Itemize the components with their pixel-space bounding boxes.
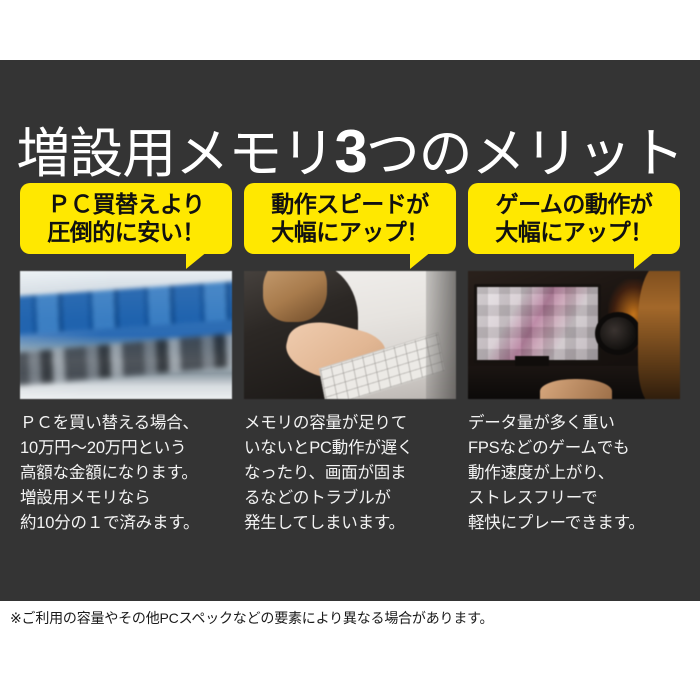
benefit-column-3: ゲームの動作が 大幅にアップ！ データ量が多く重い FPSなどのゲ bbox=[468, 183, 680, 536]
bubble-1-line-1: ＰＣ買替えより bbox=[47, 191, 204, 217]
promo-banner-page: 増設用メモリ3つのメリット ＰＣ買替えより 圧倒的に安い！ ＰＣを買い替える場合… bbox=[0, 0, 700, 700]
page-title: 増設用メモリ3つのメリット bbox=[0, 122, 700, 182]
footnote-text: ※ご利用の容量やその他PCスペックなどの要素により異なる場合があります。 bbox=[10, 608, 493, 628]
gaming-setup-photo bbox=[468, 271, 680, 399]
benefit-3-line-1: データ量が多く重い bbox=[468, 411, 680, 436]
benefit-2-line-4: るなどのトラブルが bbox=[244, 486, 456, 511]
speech-bubble-2-tail bbox=[410, 251, 432, 269]
electronics-store-photo bbox=[20, 271, 232, 399]
bubble-2-line-2: 大幅にアップ！ bbox=[248, 218, 452, 246]
benefit-1-line-3: 高額な金額になります。 bbox=[20, 461, 232, 486]
benefit-3-line-5: 軽快にプレーできます。 bbox=[468, 511, 680, 536]
bubble-1-line-2: 圧倒的に安い！ bbox=[24, 218, 228, 246]
benefit-3-body: データ量が多く重い FPSなどのゲームでも 動作速度が上がり、 ストレスフリーで… bbox=[468, 411, 680, 536]
bubble-3-line-1: ゲームの動作が bbox=[496, 191, 653, 217]
benefit-3-line-2: FPSなどのゲームでも bbox=[468, 436, 680, 461]
benefit-column-1: ＰＣ買替えより 圧倒的に安い！ ＰＣを買い替える場合、 10万円〜20万円という… bbox=[20, 183, 232, 536]
benefit-2-line-1: メモリの容量が足りて bbox=[244, 411, 456, 436]
hands-shape bbox=[540, 379, 612, 399]
benefit-1-line-4: 増設用メモリなら bbox=[20, 486, 232, 511]
benefit-3-line-4: ストレスフリーで bbox=[468, 486, 680, 511]
benefit-2-line-2: いないとPC動作が遅く bbox=[244, 436, 456, 461]
benefit-1-line-2: 10万円〜20万円という bbox=[20, 436, 232, 461]
speech-bubble-3-tail bbox=[634, 251, 656, 269]
monitor-screen-shape bbox=[474, 284, 601, 363]
speech-bubble-1-text: ＰＣ買替えより 圧倒的に安い！ bbox=[20, 183, 232, 254]
speech-bubble-2-text: 動作スピードが 大幅にアップ！ bbox=[244, 183, 456, 254]
headline-text-before: 増設用メモリ bbox=[16, 124, 334, 184]
benefit-columns: ＰＣ買替えより 圧倒的に安い！ ＰＣを買い替える場合、 10万円〜20万円という… bbox=[20, 183, 680, 536]
benefit-2-line-5: 発生してしまいます。 bbox=[244, 511, 456, 536]
benefit-2-body: メモリの容量が足りて いないとPC動作が遅く なったり、画面が固ま るなどのトラ… bbox=[244, 411, 456, 536]
benefit-1-body: ＰＣを買い替える場合、 10万円〜20万円という 高額な金額になります。 増設用… bbox=[20, 411, 232, 536]
headline-text-after: つのメリット bbox=[366, 124, 684, 184]
woman-typing-photo bbox=[244, 271, 456, 399]
benefit-1-line-5: 約10分の１で済みます。 bbox=[20, 511, 232, 536]
speech-bubble-2: 動作スピードが 大幅にアップ！ bbox=[244, 183, 456, 254]
headline-number: 3 bbox=[334, 118, 365, 185]
benefit-2-line-3: なったり、画面が固ま bbox=[244, 461, 456, 486]
speech-bubble-1-tail bbox=[186, 251, 208, 269]
dark-banner-panel: 増設用メモリ3つのメリット ＰＣ買替えより 圧倒的に安い！ ＰＣを買い替える場合… bbox=[0, 60, 700, 601]
bubble-3-line-2: 大幅にアップ！ bbox=[472, 218, 676, 246]
speech-bubble-1: ＰＣ買替えより 圧倒的に安い！ bbox=[20, 183, 232, 254]
speech-bubble-3-text: ゲームの動作が 大幅にアップ！ bbox=[468, 183, 680, 254]
desk-edge-shape bbox=[426, 271, 456, 399]
benefit-column-2: 動作スピードが 大幅にアップ！ メモリの容量が足りて いないとPC動作が遅く な… bbox=[244, 183, 456, 536]
speech-bubble-3: ゲームの動作が 大幅にアップ！ bbox=[468, 183, 680, 254]
player-hair-shape bbox=[638, 271, 680, 399]
bubble-2-line-1: 動作スピードが bbox=[271, 191, 429, 217]
benefit-1-line-1: ＰＣを買い替える場合、 bbox=[20, 411, 232, 436]
benefit-3-line-3: 動作速度が上がり、 bbox=[468, 461, 680, 486]
